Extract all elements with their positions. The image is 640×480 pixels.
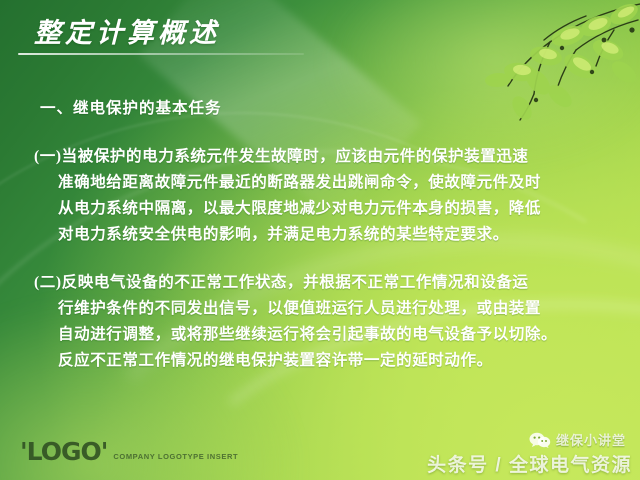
paragraph-line: (一)当被保护的电力系统元件发生故障时，应该由元件的保护装置迅速 [34, 144, 616, 170]
section-heading: 一、继电保护的基本任务 [40, 96, 640, 118]
company-logo: 'LOGO' COMPANY LOGOTYPE INSERT [20, 439, 238, 464]
paragraph-line: 反应不正常工作情况的继电保护装置容许带一定的延时动作。 [34, 348, 616, 374]
toutiao-watermark: 头条号 / 全球电气资源 [427, 450, 632, 477]
wechat-watermark: 继保小讲堂 [529, 430, 626, 449]
title-underline-rule [18, 53, 304, 55]
logo-wordmark: 'LOGO' [20, 439, 107, 464]
paragraph-line: 自动进行调整，或将那些继续运行将会引起事故的电气设备予以切除。 [34, 322, 616, 348]
slide-title: 整定计算概述 [34, 11, 220, 50]
paragraph-line: 从电力系统中隔离，以最大限度地减少对电力元件本身的损害，降低 [34, 196, 616, 222]
slide-body: 一、继电保护的基本任务 (一)当被保护的电力系统元件发生故障时，应该由元件的保护… [0, 96, 640, 396]
paragraph-line: 行维护条件的不同发出信号，以便值班运行人员进行处理，或由装置 [34, 296, 616, 322]
wechat-watermark-label: 继保小讲堂 [556, 430, 626, 449]
paragraph-line: (二)反映电气设备的不正常工作状态，并根据不正常工作情况和设备运 [34, 270, 616, 296]
paragraph-line: 对电力系统安全供电的影响，并满足电力系统的某些特定要求。 [34, 222, 616, 248]
presentation-slide: 整定计算概述 一、继电保护的基本任务 (一)当被保护的电力系统元件发生故障时，应… [0, 0, 640, 480]
paragraph-one: (一)当被保护的电力系统元件发生故障时，应该由元件的保护装置迅速 准确地给距离故… [0, 144, 640, 248]
wechat-icon [529, 432, 551, 448]
paragraph-two: (二)反映电气设备的不正常工作状态，并根据不正常工作情况和设备运 行维护条件的不… [0, 270, 640, 374]
paragraph-line: 准确地给距离故障元件最近的断路器发出跳闸命令，使故障元件及时 [34, 170, 616, 196]
logo-subtitle: COMPANY LOGOTYPE INSERT [113, 452, 238, 464]
